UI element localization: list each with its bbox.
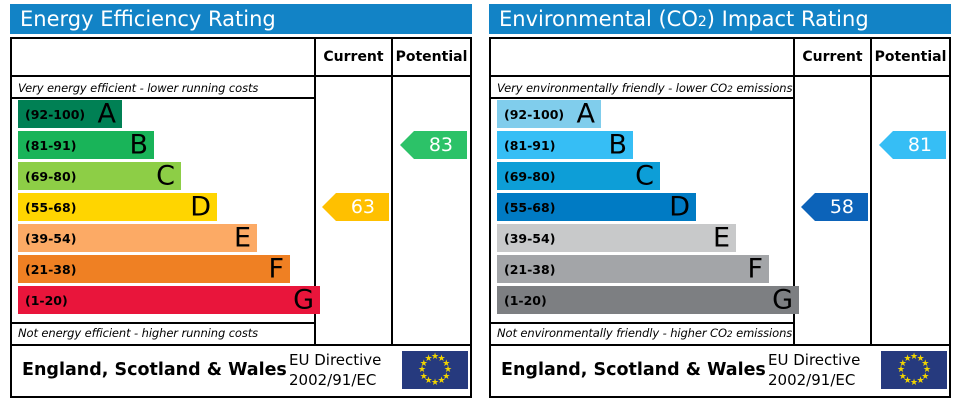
co2-band-a: (92-100) A xyxy=(497,100,601,128)
eu-star-icon: ★ xyxy=(904,355,912,363)
energy-band-e-letter: E xyxy=(234,225,251,252)
co2-band-b-range: (81-91) xyxy=(504,131,555,159)
energy-band-g-range: (1-20) xyxy=(25,286,68,314)
co2-footer-region: England, Scotland & Wales xyxy=(501,346,766,394)
co2-footer: England, Scotland & Wales EU Directive 2… xyxy=(489,346,951,398)
co2-band-f-letter: F xyxy=(747,256,763,283)
co2-band-c: (69-80) C xyxy=(497,162,660,190)
co2-band-d: (55-68) D xyxy=(497,193,696,221)
energy-band-b-range: (81-91) xyxy=(25,131,76,159)
co2-band-a-letter: A xyxy=(577,101,595,128)
energy-footer: England, Scotland & Wales EU Directive 2… xyxy=(10,346,472,398)
eu-flag-icon-energy: ★★★★★★★★★★★★ xyxy=(402,351,468,389)
energy-band-b-letter: B xyxy=(129,132,148,159)
energy-directive-line1: EU Directive xyxy=(289,350,399,370)
eu-flag-icon-co2: ★★★★★★★★★★★★ xyxy=(881,351,947,389)
co2-band-b: (81-91) B xyxy=(497,131,633,159)
energy-band-bars: (92-100) A (81-91) B (69-80) C (55-68) D… xyxy=(12,98,314,322)
co2-band-g-letter: G xyxy=(772,287,793,314)
co2-band-f-range: (21-38) xyxy=(504,255,555,283)
energy-band-d-range: (55-68) xyxy=(25,193,76,221)
energy-band-g: (1-20) G xyxy=(18,286,320,314)
co2-impact-rating-chart: Environmental (CO2) Impact Rating Curren… xyxy=(481,0,953,404)
chart-title-co2-tail: ) Impact Rating xyxy=(707,7,869,31)
co2-band-b-letter: B xyxy=(608,132,627,159)
energy-band-c-letter: C xyxy=(156,163,175,190)
co2-caption-top-tail: emissions xyxy=(733,81,793,95)
co2-potential-value-arrow: 81 xyxy=(879,131,946,159)
energy-band-e-range: (39-54) xyxy=(25,224,76,252)
co2-band-e-letter: E xyxy=(713,225,730,252)
co2-rating-table: Current Potential Very environmentally f… xyxy=(489,37,951,346)
energy-band-a: (92-100) A xyxy=(18,100,122,128)
chart-title-co2-main: Environmental (CO xyxy=(499,7,698,31)
energy-band-f-letter: F xyxy=(268,256,284,283)
energy-table-header-row: Current Potential xyxy=(12,39,470,77)
energy-current-value-arrow: 63 xyxy=(322,193,389,221)
co2-caption-bottom-main: Not environmentally friendly - higher CO xyxy=(497,326,727,340)
co2-band-f: (21-38) F xyxy=(497,255,769,283)
energy-rating-table: Current Potential Very energy efficient … xyxy=(10,37,472,346)
energy-band-d: (55-68) D xyxy=(18,193,217,221)
energy-band-b: (81-91) B xyxy=(18,131,154,159)
energy-band-a-letter: A xyxy=(98,101,116,128)
co2-band-g-range: (1-20) xyxy=(504,286,547,314)
energy-footer-region: England, Scotland & Wales xyxy=(22,346,287,394)
co2-band-c-letter: C xyxy=(635,163,654,190)
co2-header-current: Current xyxy=(795,39,870,75)
energy-directive-line2: 2002/91/EC xyxy=(289,370,399,390)
energy-efficiency-rating-chart: Energy Efficiency Rating Current Potenti… xyxy=(2,0,474,404)
co2-caption-bottom-tail: emissions xyxy=(733,326,793,340)
co2-footer-directive: EU Directive 2002/91/EC xyxy=(768,350,878,390)
chart-title-co2-subscript: 2 xyxy=(698,14,707,30)
energy-band-g-letter: G xyxy=(293,287,314,314)
co2-band-d-range: (55-68) xyxy=(504,193,555,221)
energy-header-potential: Potential xyxy=(393,39,470,75)
co2-table-header-row: Current Potential xyxy=(491,39,949,77)
chart-title-co2: Environmental (CO2) Impact Rating xyxy=(489,4,951,34)
energy-band-a-range: (92-100) xyxy=(25,100,85,128)
co2-band-e-range: (39-54) xyxy=(504,224,555,252)
co2-band-d-letter: D xyxy=(669,194,690,221)
energy-caption-top: Very energy efficient - lower running co… xyxy=(18,79,314,97)
co2-band-a-range: (92-100) xyxy=(504,100,564,128)
co2-caption-bottom: Not environmentally friendly - higher CO… xyxy=(497,324,793,342)
epc-chart-page: Energy Efficiency Rating Current Potenti… xyxy=(0,0,957,404)
co2-header-potential: Potential xyxy=(872,39,949,75)
co2-band-bars: (92-100) A (81-91) B (69-80) C (55-68) D… xyxy=(491,98,793,322)
energy-header-current: Current xyxy=(316,39,391,75)
energy-potential-value-arrow: 83 xyxy=(400,131,467,159)
co2-column-divider-2 xyxy=(870,39,872,344)
co2-band-c-range: (69-80) xyxy=(504,162,555,190)
energy-band-c-range: (69-80) xyxy=(25,162,76,190)
energy-band-f-range: (21-38) xyxy=(25,255,76,283)
co2-band-e: (39-54) E xyxy=(497,224,736,252)
energy-band-e: (39-54) E xyxy=(18,224,257,252)
chart-title-energy: Energy Efficiency Rating xyxy=(10,4,472,34)
energy-column-divider-2 xyxy=(391,39,393,344)
chart-title-energy-text: Energy Efficiency Rating xyxy=(20,7,276,31)
energy-band-f: (21-38) F xyxy=(18,255,290,283)
co2-directive-line1: EU Directive xyxy=(768,350,878,370)
eu-star-icon: ★ xyxy=(425,355,433,363)
energy-footer-directive: EU Directive 2002/91/EC xyxy=(289,350,399,390)
co2-directive-line2: 2002/91/EC xyxy=(768,370,878,390)
energy-caption-bottom: Not energy efficient - higher running co… xyxy=(18,324,314,342)
co2-current-value-arrow: 58 xyxy=(801,193,868,221)
co2-caption-top-main: Very environmentally friendly - lower CO xyxy=(497,81,727,95)
co2-band-g: (1-20) G xyxy=(497,286,799,314)
energy-band-d-letter: D xyxy=(190,194,211,221)
energy-band-c: (69-80) C xyxy=(18,162,181,190)
co2-caption-top: Very environmentally friendly - lower CO… xyxy=(497,79,793,97)
